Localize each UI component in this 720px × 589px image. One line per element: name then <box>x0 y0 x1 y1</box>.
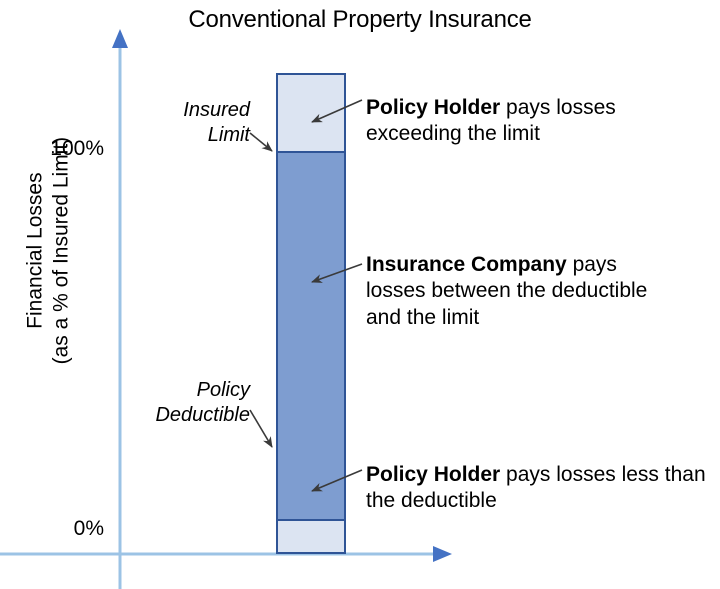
policy-deductible-label: Policy Deductible <box>60 378 250 428</box>
page-title: Conventional Property Insurance <box>0 6 720 34</box>
bar-segment-above-limit[interactable] <box>276 73 346 153</box>
callout-insurer: Insurance Company pays losses between th… <box>366 252 666 331</box>
callout-above-limit-emphasis: Policy Holder <box>366 96 500 119</box>
callout-below-deductible-emphasis: Policy Holder <box>366 463 500 486</box>
y-tick-label-0: 0% <box>8 517 104 541</box>
stacked-bar <box>276 73 346 554</box>
x-axis-arrowhead <box>433 546 452 562</box>
callout-insurer-emphasis: Insurance Company <box>366 253 567 276</box>
leader-insured-limit <box>250 133 272 151</box>
diagram-canvas: Conventional Property Insurance Financia… <box>0 0 720 589</box>
insured-limit-label: Insured Limit <box>80 98 250 148</box>
callout-above-limit: Policy Holder pays losses exceeding the … <box>366 95 696 148</box>
leader-policy-deductible <box>250 410 272 447</box>
bar-segment-below-deductible[interactable] <box>276 519 346 554</box>
callout-below-deductible: Policy Holder pays losses less than the … <box>366 462 716 515</box>
bar-segment-insurance-company[interactable] <box>276 151 346 521</box>
